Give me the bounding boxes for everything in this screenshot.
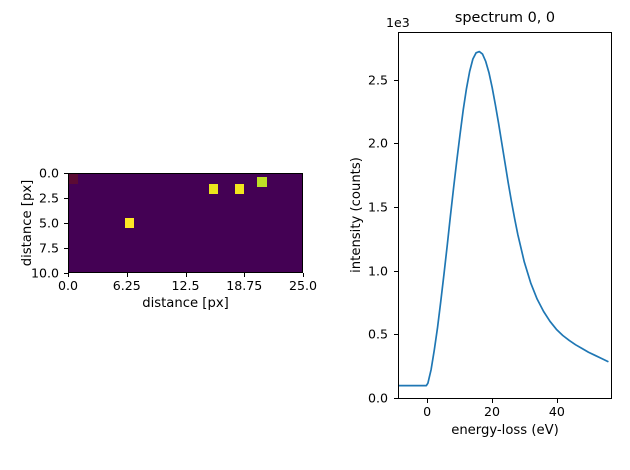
spectrum-yaxis-label: intensity (counts) xyxy=(349,157,364,273)
heatmap-cell xyxy=(125,218,134,228)
spectrum-xticklabel-1: 20 xyxy=(484,405,500,418)
heatmap-ytick-2 xyxy=(64,223,68,224)
spectrum-line-plot xyxy=(399,33,611,398)
spectrum-xticklabel-2: 40 xyxy=(549,405,565,418)
heatmap-yticklabel-4: 10.0 xyxy=(25,267,59,280)
heatmap-xtick-3 xyxy=(244,273,245,277)
spectrum-xtick-1 xyxy=(492,399,493,403)
spectrum-xaxis-label: energy-loss (eV) xyxy=(451,423,559,438)
heatmap-xaxis-label: distance [px] xyxy=(142,296,229,311)
spectrum-ytick-1 xyxy=(394,334,398,335)
heatmap-xtick-2 xyxy=(186,273,187,277)
spectrum-yticklabel-5: 2.5 xyxy=(354,73,388,86)
spectrum-yticklabel-0: 0.0 xyxy=(354,392,388,405)
spectrum-xtick-2 xyxy=(557,399,558,403)
heatmap-yticklabel-0: 0.0 xyxy=(25,167,59,180)
spectrum-xtick-0 xyxy=(427,399,428,403)
spectrum-ytick-5 xyxy=(394,80,398,81)
spectrum-axes xyxy=(398,32,612,399)
spectrum-yaxis-offset-text: 1e3 xyxy=(386,15,410,30)
heatmap-ytick-3 xyxy=(64,248,68,249)
heatmap-image xyxy=(69,174,302,272)
spectrum-ytick-3 xyxy=(394,207,398,208)
heatmap-xticklabel-1: 6.25 xyxy=(113,279,141,292)
spectrum-ytick-0 xyxy=(394,398,398,399)
spectrum-data-line xyxy=(399,52,608,386)
heatmap-xticklabel-2: 12.5 xyxy=(171,279,199,292)
heatmap-xtick-1 xyxy=(127,273,128,277)
spectrum-ytick-4 xyxy=(394,143,398,144)
heatmap-ytick-4 xyxy=(64,273,68,274)
heatmap-ytick-1 xyxy=(64,198,68,199)
spectrum-title: spectrum 0, 0 xyxy=(455,10,555,26)
heatmap-xticklabel-4: 25.0 xyxy=(289,279,317,292)
heatmap-cell xyxy=(257,177,266,187)
spectrum-yticklabel-1: 0.5 xyxy=(354,328,388,341)
heatmap-xticklabel-0: 0.0 xyxy=(58,279,78,292)
heatmap-ytick-0 xyxy=(64,173,68,174)
heatmap-xtick-4 xyxy=(303,273,304,277)
heatmap-xticklabel-3: 18.75 xyxy=(226,279,262,292)
heatmap-cell xyxy=(209,184,218,194)
spectrum-xticklabel-0: 0 xyxy=(423,405,431,418)
heatmap-axes xyxy=(68,173,303,273)
heatmap-xtick-0 xyxy=(68,273,69,277)
heatmap-cell xyxy=(235,184,244,194)
spectrum-ytick-2 xyxy=(394,271,398,272)
matplotlib-figure: 0.0 6.25 12.5 18.75 25.0 0.0 2.5 5.0 7.5… xyxy=(0,0,630,470)
heatmap-cell xyxy=(69,174,78,184)
heatmap-yaxis-label: distance [px] xyxy=(20,180,35,267)
spectrum-yticklabel-4: 2.0 xyxy=(354,137,388,150)
